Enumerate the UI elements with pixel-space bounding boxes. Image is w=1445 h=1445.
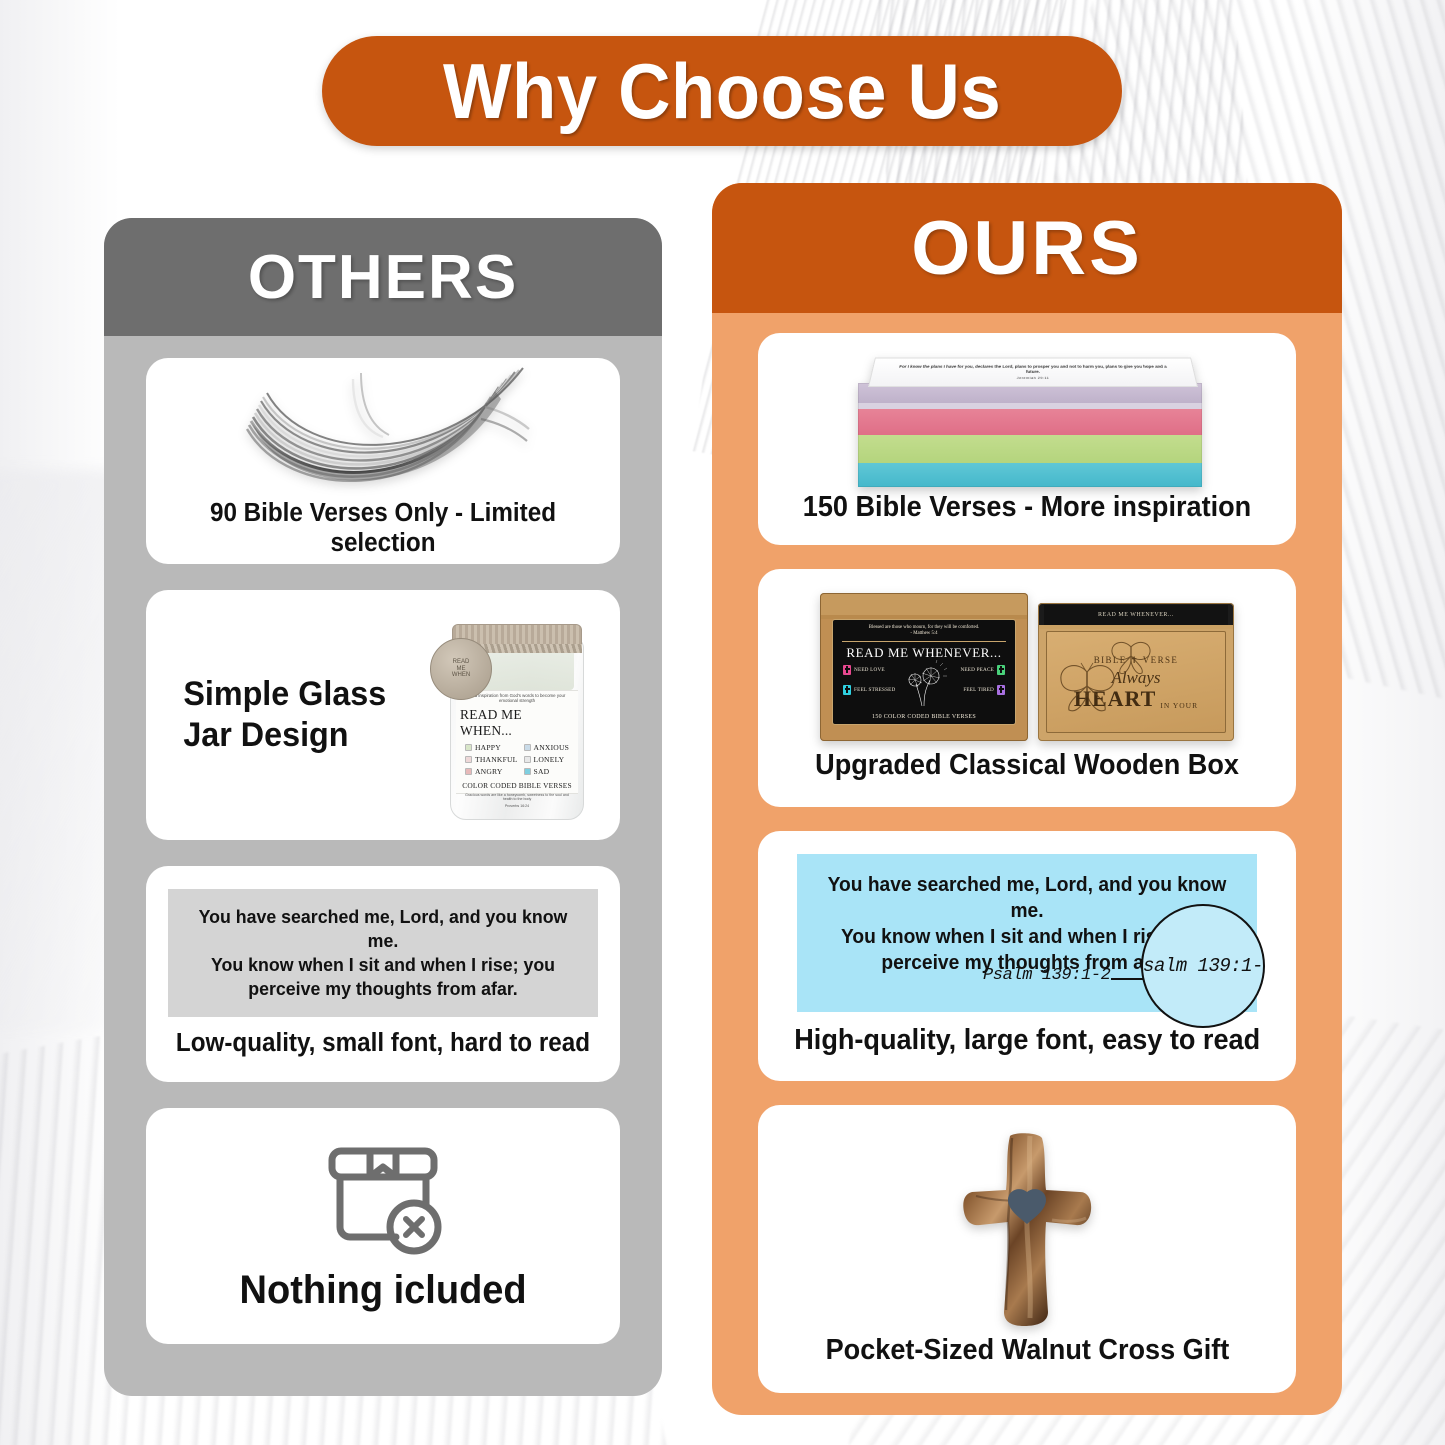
ours-card-walnut-cross: Pocket-Sized Walnut Cross Gift [758,1105,1296,1393]
jar-label-mood-grid: HAPPY ANXIOUS THANKFUL LONELY ANGRY SAD [460,743,574,776]
verse-line: You know when I sit and when I rise; you [186,953,580,977]
others-card-1-caption: 90 Bible Verses Only - Limited selection [171,499,595,558]
box-side-top-strip: READ ME WHENEVER... [1044,605,1228,625]
magnified-verse-reference: Psalm 139:1-2 [1141,955,1265,977]
mood-swatch-anxious [524,744,531,751]
box-side-inyour-text: IN YOUR [1160,701,1198,710]
stack-edge-shading [858,383,1202,487]
jar-mood-item: THANKFUL [465,755,518,764]
box-front-divider [842,641,1006,642]
jar-tag-text: READMEWHEN [452,659,470,679]
magnifier-circle: Psalm 139:1-2 [1141,904,1265,1028]
blue-verse-box: You have searched me, Lord, and you know… [797,854,1257,1012]
dandelion-icon [900,660,948,708]
ours-card-wooden-box: Blessed are those who mourn, for they wi… [758,569,1296,807]
butterfly-icon-large [1057,660,1117,714]
others-card-verses: 90 Bible Verses Only - Limited selection [146,358,620,564]
cross-icon-need-love [843,665,851,675]
jar-hang-tag: READMEWHEN [430,638,492,700]
ours-card-4-caption: Pocket-Sized Walnut Cross Gift [825,1334,1229,1367]
mood-label: HAPPY [475,743,501,752]
cross-icon-feel-tired [997,685,1005,695]
stack-top-card: For I know the plans I have for you, dec… [868,358,1198,387]
wooden-boxes-row: Blessed are those who mourn, for they wi… [820,593,1234,741]
ours-panel: OURS For I know the plans I have for you… [712,183,1342,1415]
walnut-cross-image [952,1130,1102,1328]
stack-top-reference: Jeremiah 29:11 [1017,376,1050,380]
mood-swatch-happy [465,744,472,751]
package-box-x-icon [318,1139,448,1259]
others-header-label: OTHERS [248,242,518,313]
others-card-2-caption-line1: Simple Glass [183,674,386,715]
box-front-heading: READ ME WHENEVER... [846,645,1001,661]
cross-icon-feel-stressed [843,685,851,695]
mood-label: ANGRY [475,767,503,776]
ours-card-3-caption: High-quality, large font, easy to read [794,1024,1260,1057]
butterfly-icon-small [1109,638,1153,676]
box-item-label: NEED PEACE [960,667,994,673]
mood-label: THANKFUL [475,755,518,764]
others-card-jar: Simple Glass Jar Design Find inspiration… [146,590,620,840]
mood-swatch-sad [524,768,531,775]
others-header: OTHERS [104,218,662,336]
gray-verse-box: You have searched me, Lord, and you know… [168,889,598,1017]
others-card-3-caption: Low-quality, small font, hard to read [176,1029,590,1059]
box-side-engraved-face: BIBLE ✝ VERSE Always HEART IN YOUR [1046,631,1226,733]
ours-card-verse-quality: You have searched me, Lord, and you know… [758,831,1296,1081]
jar-caption-block: Simple Glass Jar Design [178,674,392,757]
box-item-label: FEEL TIRED [963,687,994,693]
page-title-banner: Why Choose Us [322,36,1122,146]
ours-header: OURS [712,183,1342,313]
others-card-verse-quality: You have searched me, Lord, and you know… [146,866,620,1082]
ours-card-verses: For I know the plans I have for you, dec… [758,333,1296,545]
cross-icon-need-peace [997,665,1005,675]
others-card-2-caption-line2: Jar Design [183,715,386,756]
ours-card-1-caption: 150 Bible Verses - More inspiration [803,491,1251,524]
jar-label-heading: READ ME WHEN... [460,707,574,739]
verse-line: You have searched me, Lord, and you know… [186,905,580,953]
jar-mood-item: HAPPY [465,743,518,752]
others-card-4-caption: Nothing icluded [239,1267,526,1313]
box-item-label: FEEL STRESSED [854,687,895,693]
jar-label-footer: COLOR CODED BIBLE VERSES [462,781,572,790]
jar-mood-item: ANXIOUS [524,743,570,752]
mood-label: SAD [534,767,550,776]
jar-card-row: Simple Glass Jar Design Find inspiration… [160,602,606,828]
wooden-box-front: Blessed are those who mourn, for they wi… [820,593,1028,741]
verse-line: perceive my thoughts from afar. [186,977,580,1001]
mood-label: LONELY [534,755,565,764]
box-front-footer: 150 COLOR CODED BIBLE VERSES [872,714,976,720]
wooden-box-side: READ ME WHENEVER... [1038,603,1234,741]
mood-swatch-lonely [524,756,531,763]
colored-card-stack-image: For I know the plans I have for you, dec… [842,353,1212,483]
stack-top-verse: For I know the plans I have for you, dec… [872,365,1194,374]
ours-header-label: OURS [911,205,1143,292]
box-item-label: NEED LOVE [854,667,885,673]
jar-label-verse-note: Gracious words are like a honeycomb, swe… [460,793,574,801]
box-front-top-ref: - Matthew 5:4 [910,631,937,637]
mood-label: ANXIOUS [534,743,570,752]
jar-label-verse-ref: Proverbs 16:24 [505,804,529,808]
jar-mood-item: ANGRY [465,767,518,776]
verse-reference: Psalm 139:1-2 [983,966,1110,985]
wooden-box-front-plate: Blessed are those who mourn, for they wi… [832,619,1016,725]
paper-fan-icon [233,363,533,495]
ours-card-list: For I know the plans I have for you, dec… [712,313,1342,1419]
others-card-nothing-included: Nothing icluded [146,1108,620,1344]
others-panel: OTHERS [104,218,662,1396]
jar-mood-item: SAD [524,767,570,776]
others-card-list: 90 Bible Verses Only - Limited selection… [104,336,662,1370]
ours-card-2-caption: Upgraded Classical Wooden Box [815,749,1239,782]
glass-jar-image: Find inspiration from God's words to bec… [434,604,600,826]
jar-mood-item: LONELY [524,755,570,764]
page-title: Why Choose Us [443,46,1001,137]
mood-swatch-thankful [465,756,472,763]
mood-swatch-angry [465,768,472,775]
jar-label: Find inspiration from God's words to bec… [456,690,578,794]
